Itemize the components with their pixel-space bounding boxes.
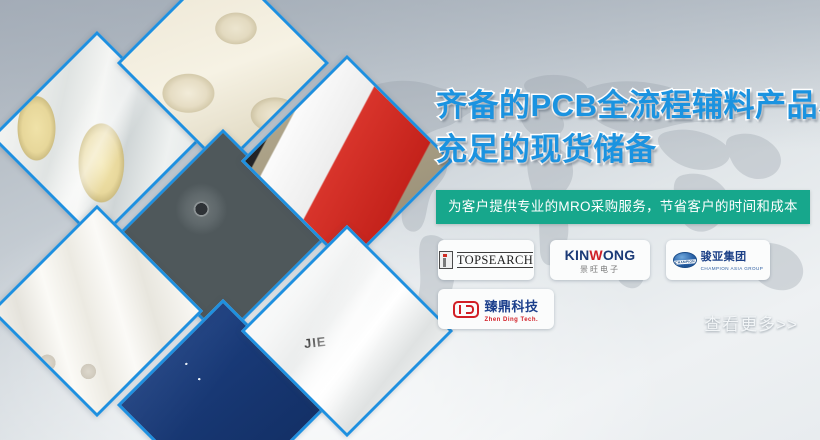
partner-logo-champion-asia[interactable]: CHAMPION ASIA 骏亚集团 CHAMPION ASIA GROUP <box>666 240 770 280</box>
topsearch-mark-icon <box>439 251 453 269</box>
headline-line-1: 齐备的PCB全流程辅料产品、 <box>436 84 820 128</box>
promo-banner: JIE 齐备的PCB全流程辅料产品、 充足的现货储备 为客户提供专业的MRO采购… <box>0 0 820 440</box>
product-collage: JIE <box>0 0 440 440</box>
partner-logo-topsearch[interactable]: TOPSEARCH <box>438 240 534 280</box>
partner-logo-kinwong[interactable]: KINWONG 景旺电子 <box>550 240 650 280</box>
kinwong-word-part-1: KIN <box>565 247 590 263</box>
kinwong-wordmark: KINWONG <box>565 247 636 263</box>
zhending-mark-icon <box>453 301 479 318</box>
film-print-label: JIE <box>303 334 327 351</box>
kinwong-word-part-2: ONG <box>603 247 636 263</box>
topsearch-wordmark: TOPSEARCH <box>457 253 533 267</box>
headline: 齐备的PCB全流程辅料产品、 充足的现货储备 <box>436 84 820 172</box>
kinwong-word-accent: W <box>589 247 602 263</box>
subtitle-bar: 为客户提供专业的MRO采购服务，节省客户的时间和成本 <box>436 190 810 224</box>
zhending-english-name: Zhen Ding Tech. <box>484 317 538 323</box>
zhending-chinese-name: 臻鼎科技 <box>484 296 538 315</box>
kinwong-chinese-name: 景旺电子 <box>580 266 620 274</box>
globe-banner-text: CHAMPION ASIA <box>674 259 696 265</box>
partner-logo-row-1: TOPSEARCH KINWONG 景旺电子 CHAMPION ASIA <box>438 240 820 280</box>
globe-icon: CHAMPION ASIA <box>673 252 697 268</box>
partner-logo-zhen-ding[interactable]: 臻鼎科技 Zhen Ding Tech. <box>438 289 554 329</box>
champion-asia-english-name: CHAMPION ASIA GROUP <box>701 267 764 272</box>
view-more-link[interactable]: 查看更多>> <box>704 310 798 335</box>
headline-line-2: 充足的现货储备 <box>436 128 820 172</box>
banner-content: 齐备的PCB全流程辅料产品、 充足的现货储备 为客户提供专业的MRO采购服务，节… <box>430 0 820 440</box>
champion-asia-chinese-name: 骏亚集团 <box>701 248 764 264</box>
topsearch-rule-bottom <box>457 267 533 268</box>
